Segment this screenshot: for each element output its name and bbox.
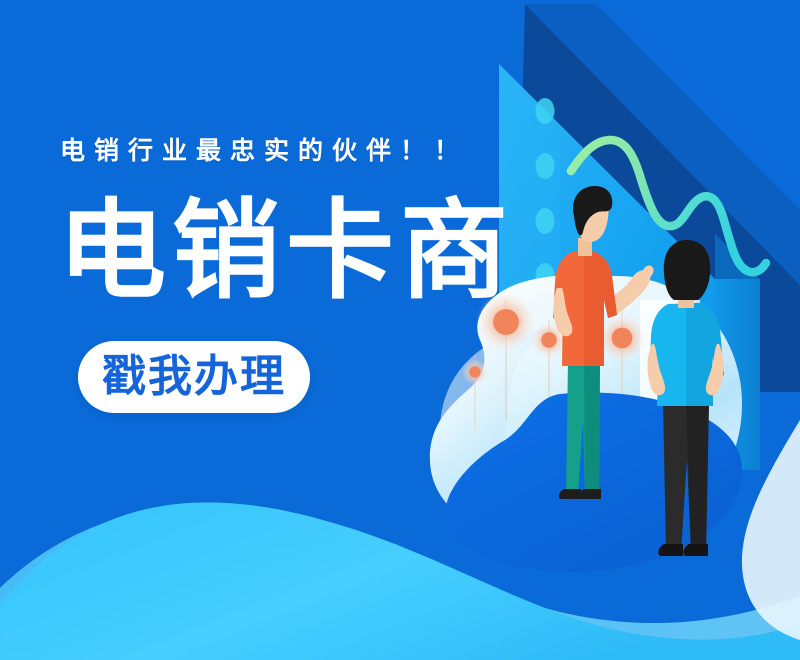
cta-button[interactable]: 戳我办理 <box>78 341 310 413</box>
promo-banner: 电销行业最忠实的伙伴！！ 电销卡商 戳我办理 <box>0 0 800 660</box>
cta-button-label: 戳我办理 <box>102 353 286 401</box>
banner-illustration <box>0 0 800 660</box>
